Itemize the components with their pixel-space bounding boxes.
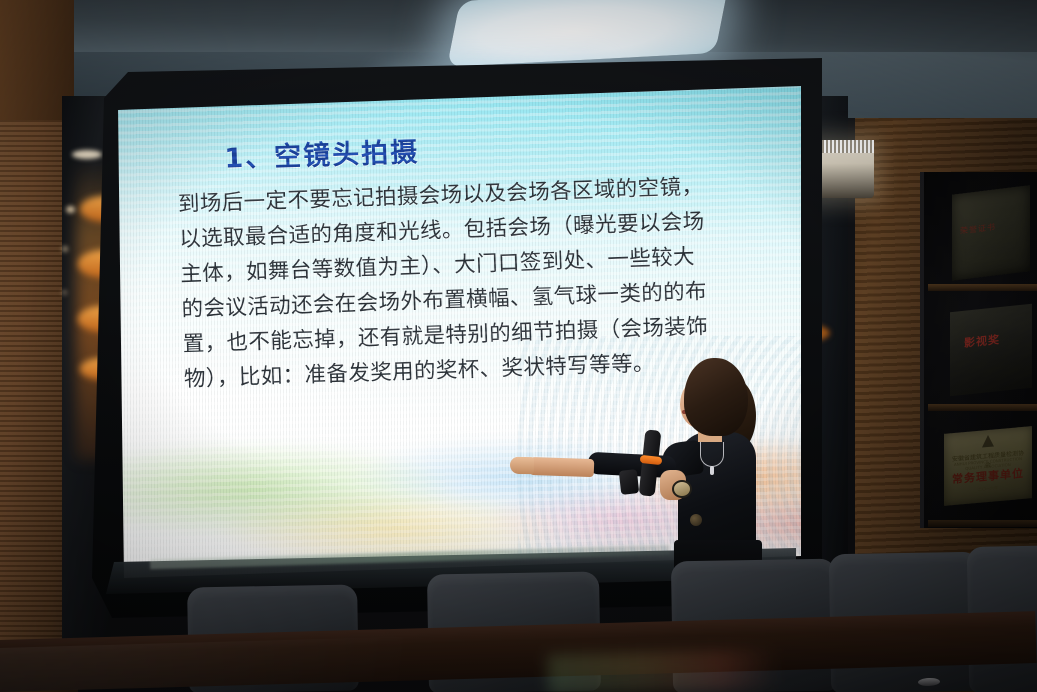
award-display-cabinet[interactable]: 荣誉证书 影视奖 安徽省建筑工程质量检测协会 ANHUI PROVINCE CO… [920, 172, 1037, 528]
presenter-wristwatch [672, 480, 692, 498]
association-logo-icon [982, 434, 994, 447]
award-plaque-bottom: 安徽省建筑工程质量检测协会 ANHUI PROVINCE CONSTRUCTIO… [944, 426, 1032, 506]
presenter-garment-button [690, 514, 702, 526]
cabinet-shelf [928, 404, 1037, 411]
cabinet-shelf [928, 284, 1037, 291]
presenter-forearm [526, 457, 595, 477]
presenter-necklace [700, 442, 724, 467]
downlight-reflection [62, 290, 67, 295]
slide-content: 1、空镜头拍摄 到场后一定不要忘记拍摄会场以及会场各区域的空镜， 以选取最合适的… [176, 118, 784, 397]
table-color-reflection [547, 649, 778, 692]
award-plaque-middle: 影视奖 [950, 304, 1032, 397]
downlight-reflection [66, 206, 75, 213]
award-plaque-top: 荣誉证书 [952, 185, 1030, 281]
presentation-clicker-icon[interactable] [619, 469, 639, 495]
downlight-reflection [62, 246, 68, 252]
cabinet-shelf [928, 520, 1037, 527]
presenter-necklace-pendant [710, 466, 714, 475]
conference-room-photo: 1、空镜头拍摄 到场后一定不要忘记拍摄会场以及会场各区域的空镜， 以选取最合适的… [0, 0, 1037, 692]
presenter-pointing-hand [510, 457, 534, 474]
presenter-hair [684, 358, 748, 436]
award-plaque-top-text: 荣誉证书 [960, 221, 996, 236]
award-plaque-middle-text: 影视奖 [964, 331, 1000, 351]
downlight-reflection [72, 150, 102, 159]
presenter [648, 358, 778, 588]
